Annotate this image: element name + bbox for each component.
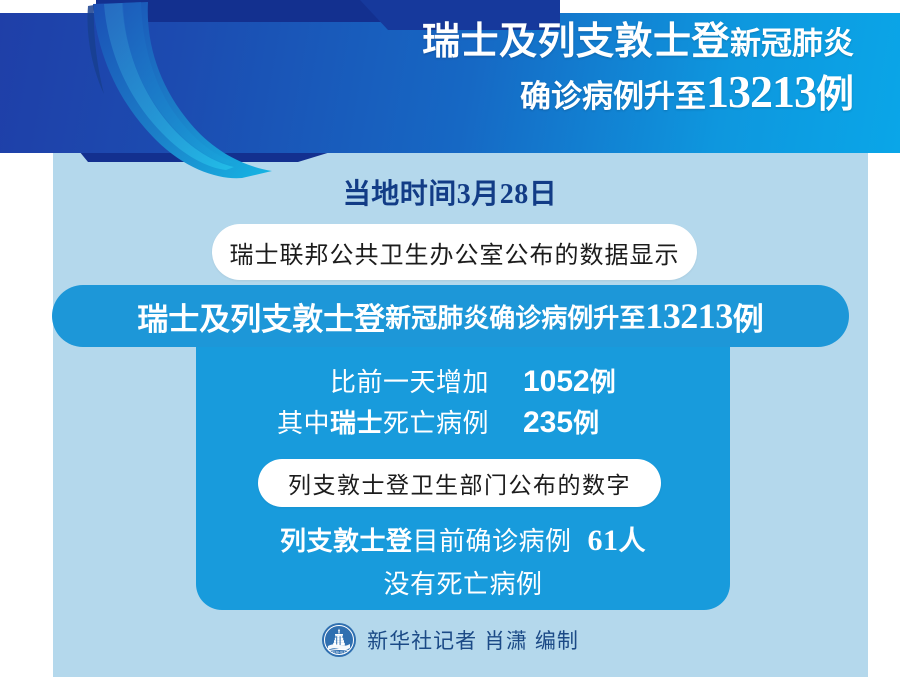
- source-statement-pill: 瑞士联邦公共卫生办公室公布的数据显示: [212, 224, 697, 280]
- liechtenstein-confirmed-unit: 人: [619, 526, 647, 556]
- stat-label-deaths-pre: 其中: [277, 408, 330, 438]
- header-title: 瑞士及列支敦士登新冠肺炎 确诊病例升至13213例: [154, 20, 854, 119]
- footer-credit: XINHUA 新华社记者 肖潇 编制: [0, 622, 900, 658]
- stat-row-new-cases: 比前一天增加 1052例: [196, 362, 730, 399]
- local-date-label: 当地时间3月28日: [0, 172, 900, 212]
- headline-case-unit: 例: [733, 294, 764, 339]
- header-title-countries: 瑞士及列支敦士登: [422, 21, 730, 63]
- source-statement-text: 瑞士联邦公共卫生办公室公布的数据显示: [230, 235, 680, 270]
- liechtenstein-confirmed-line: 列支敦士登目前确诊病例61人: [196, 519, 730, 558]
- stat-label-deaths-country: 瑞士: [330, 408, 383, 438]
- xinhua-logo-icon: XINHUA: [321, 622, 357, 658]
- header-title-case-count: 13213: [706, 66, 816, 117]
- stat-value-new-cases: 1052例: [489, 362, 693, 399]
- stat-value-deaths: 235例: [489, 403, 693, 440]
- statistics-list: 比前一天增加 1052例 其中瑞士死亡病例 235例: [196, 362, 730, 444]
- stat-number-deaths: 235: [523, 406, 573, 439]
- liechtenstein-confirmed-count: 61: [572, 524, 619, 557]
- liechtenstein-confirmed-label: 目前确诊病例: [413, 526, 572, 556]
- headline-description: 新冠肺炎确诊病例升至: [385, 298, 645, 335]
- headline-bar: 瑞士及列支敦士登新冠肺炎确诊病例升至13213例: [52, 285, 849, 347]
- headline-case-count: 13213: [645, 295, 733, 337]
- credit-text: 新华社记者 肖潇 编制: [367, 625, 579, 655]
- liechtenstein-country-label: 列支敦士登: [280, 526, 413, 556]
- stat-number-new-cases: 1052: [523, 365, 590, 398]
- header-title-disease: 新冠肺炎: [730, 26, 854, 61]
- liechtenstein-deaths-line: 没有死亡病例: [196, 564, 730, 601]
- stat-label-deaths: 其中瑞士死亡病例: [233, 403, 489, 440]
- stat-unit-deaths: 例: [573, 408, 599, 438]
- infographic-root: 瑞士及列支敦士登新冠肺炎 确诊病例升至13213例 当地时间3月28日 瑞士联邦…: [0, 0, 900, 677]
- headline-countries: 瑞士及列支敦士登: [137, 294, 385, 339]
- stat-label-new-cases: 比前一天增加: [233, 362, 489, 399]
- stat-row-deaths: 其中瑞士死亡病例 235例: [196, 403, 730, 440]
- stat-label-deaths-post: 死亡病例: [383, 408, 489, 438]
- header-title-case-unit: 例: [816, 74, 854, 116]
- liechtenstein-source-text: 列支敦士登卫生部门公布的数字: [288, 466, 631, 500]
- stat-unit-new-cases: 例: [590, 367, 616, 397]
- header-title-line-1: 瑞士及列支敦士登新冠肺炎: [154, 20, 854, 65]
- header-title-line-2: 确诊病例升至13213例: [154, 65, 854, 119]
- header-title-cases-label: 确诊病例升至: [520, 79, 706, 114]
- liechtenstein-stats: 列支敦士登目前确诊病例61人 没有死亡病例: [196, 519, 730, 601]
- svg-text:XINHUA: XINHUA: [332, 651, 347, 655]
- liechtenstein-source-pill: 列支敦士登卫生部门公布的数字: [258, 459, 661, 507]
